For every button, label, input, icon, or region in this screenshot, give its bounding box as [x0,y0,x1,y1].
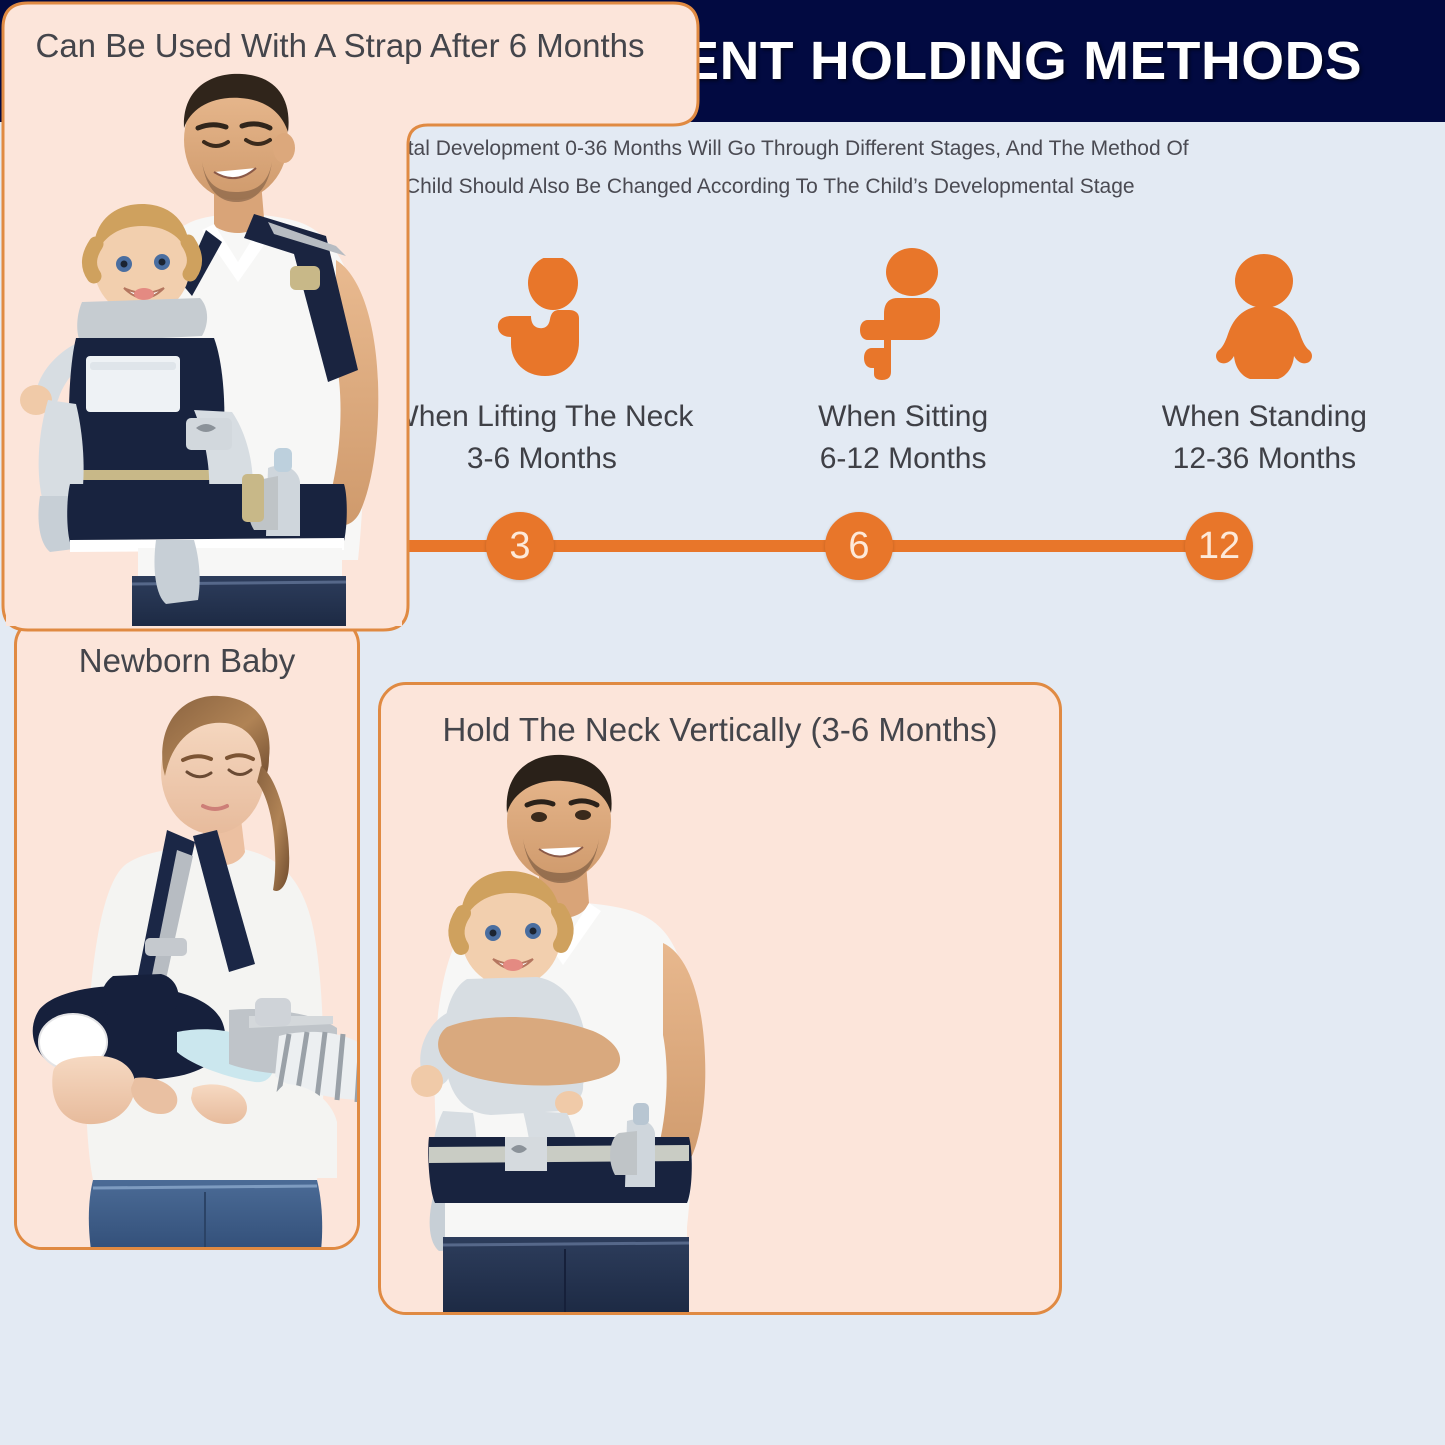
stage-label: When Sitting 6-12 Months [818,396,988,480]
stage-title: When Sitting [818,400,988,433]
baby-standing-icon [1216,245,1312,380]
stage-age: 12-36 Months [1162,438,1367,480]
card-strap-after-6-months: Can Be Used With A Strap After 6 Months [0,0,701,633]
stage-age: 6-12 Months [818,438,988,480]
photo-father-holding-toddler-hip-seat [387,751,733,1313]
stage-title: When Standing [1162,400,1367,433]
card-title: Can Be Used With A Strap After 6 Months [0,27,680,65]
card-hold-neck-vertically: Hold The Neck Vertically (3-6 Months) [378,682,1062,1315]
stage-label: When Standing 12-36 Months [1162,396,1367,480]
card-newborn-baby: Newborn Baby [14,617,360,1250]
baby-sitting-icon [860,245,946,380]
stage-standing: When Standing 12-36 Months [1084,245,1445,495]
timeline-node-12[interactable]: 12 [1185,512,1253,580]
photo-father-carrying-toddler-straps [6,70,402,626]
timeline-node-6[interactable]: 6 [825,512,893,580]
photo-mother-holding-newborn [17,680,360,1250]
stage-sitting: When Sitting 6-12 Months [723,245,1084,495]
card-title: Hold The Neck Vertically (3-6 Months) [381,711,1059,749]
card-title: Newborn Baby [17,642,357,680]
